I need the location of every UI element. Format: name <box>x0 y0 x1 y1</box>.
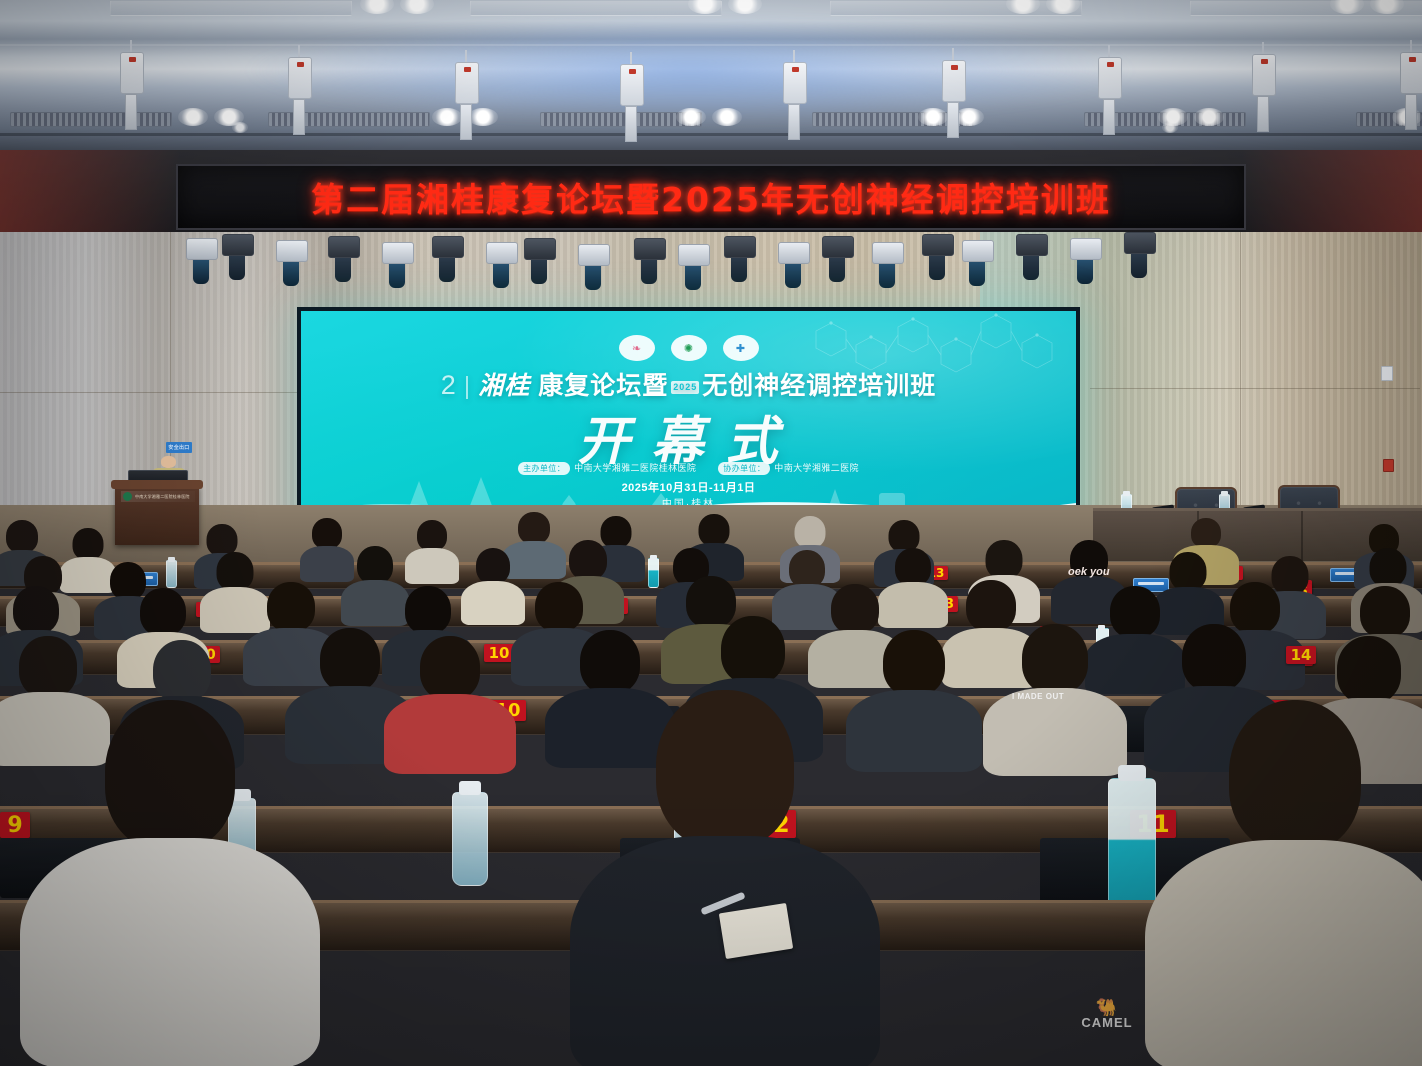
audience-member <box>400 636 500 762</box>
emblem-glyph: ✺ <box>684 342 693 355</box>
audience-member <box>1000 624 1110 758</box>
ceiling-seam <box>0 44 1422 46</box>
medical-cross-emblem-blue-icon: ✚ <box>723 335 759 361</box>
smoke-detector <box>1162 122 1178 133</box>
title-divider: | <box>464 372 472 400</box>
audience-member <box>468 548 518 618</box>
screen-logo-row: ❧ ✺ ✚ <box>301 335 1076 361</box>
emblem-glyph: ❧ <box>632 342 641 355</box>
ceiling-seam <box>0 133 1422 136</box>
title-tail: 无创神经调控培训班 <box>702 372 936 400</box>
hanging-light-unit <box>942 48 964 138</box>
edition-number: 2 <box>441 370 457 400</box>
ceiling-light <box>676 108 706 126</box>
hoodie-graphic-text: I MADE OUT <box>1012 692 1064 701</box>
camel-brand-text: CAMEL <box>1081 1015 1132 1030</box>
conference-hall-photo: 第二届湘桂康复论坛暨2025年无创神经调控培训班 安全出口 安全出口 <box>0 0 1422 1066</box>
wall-control-box[interactable] <box>1381 366 1393 381</box>
water-bottle[interactable] <box>648 558 659 588</box>
emblem-glyph: ✚ <box>736 342 745 355</box>
hanging-light-unit <box>620 52 642 142</box>
banner-right-glow <box>1242 150 1422 236</box>
title-main: 康复论坛暨 <box>538 372 668 400</box>
ceiling-light <box>178 108 208 126</box>
hanging-light-unit <box>1252 42 1274 132</box>
podium-emblem-text: 中南大学湘雅二医院桂林医院 <box>135 494 190 500</box>
university-emblem-green-icon: ✺ <box>671 335 707 361</box>
ceiling-panel <box>470 0 722 16</box>
banner-text: 第二届湘桂康复论坛暨2025年无创神经调控培训班 <box>311 173 1111 221</box>
screen-title-line: 2|湘桂 康复论坛暨2025无创神经调控培训班 <box>301 366 1076 402</box>
wall-seam <box>1090 388 1420 389</box>
foreground-person-right <box>1180 700 1410 1066</box>
water-bottle[interactable] <box>452 792 488 886</box>
coorganizer-name: 中南大学湘雅二医院 <box>774 463 859 473</box>
foreground-person-left <box>60 700 280 1060</box>
hanging-light-unit <box>120 40 142 130</box>
ceiling-panel <box>830 0 1082 16</box>
ceiling-panel <box>110 0 352 16</box>
wall-seam <box>0 392 300 393</box>
camel-glyph-icon: 🐫 <box>1052 1000 1162 1015</box>
smoke-detector <box>232 122 248 133</box>
year-badge: 2025 <box>671 381 699 394</box>
hanging-light-unit <box>1400 40 1422 130</box>
hanging-light-unit <box>455 50 477 140</box>
water-bottle[interactable] <box>166 560 177 588</box>
camel-brand-logo: 🐫 CAMEL <box>1052 1000 1162 1030</box>
ceiling-light <box>712 108 742 126</box>
audience-member <box>886 548 940 622</box>
audience-member <box>410 520 454 580</box>
event-banner: 第二届湘桂康复论坛暨2025年无创神经调控培训班 <box>176 164 1246 230</box>
organizer-name: 中南大学湘雅二医院桂林医院 <box>574 463 696 473</box>
foreground-person-center <box>610 690 840 1066</box>
jacket-graphic-text: oek you <box>1068 566 1110 578</box>
region-label: 湘桂 <box>478 372 530 400</box>
hospital-seal-icon <box>123 492 132 501</box>
ceiling-vent <box>10 112 172 127</box>
audience-member <box>305 518 349 578</box>
fire-alarm[interactable] <box>1383 459 1394 472</box>
podium: 中南大学湘雅二医院桂林医院 <box>115 485 199 545</box>
ceiling-light <box>1194 108 1224 126</box>
audience-member <box>862 630 966 758</box>
hanging-light-unit <box>288 45 310 135</box>
hospital-emblem-pink-icon: ❧ <box>619 335 655 361</box>
hanging-light-unit <box>783 50 805 140</box>
seat-number: 14 <box>1286 646 1316 664</box>
podium-emblem: 中南大学湘雅二医院桂林医院 <box>121 491 195 502</box>
hanging-light-unit <box>1098 45 1120 135</box>
seat-number: 9 <box>0 812 30 838</box>
stage-light-truss <box>0 232 1422 294</box>
banner-left-glow <box>0 150 180 236</box>
